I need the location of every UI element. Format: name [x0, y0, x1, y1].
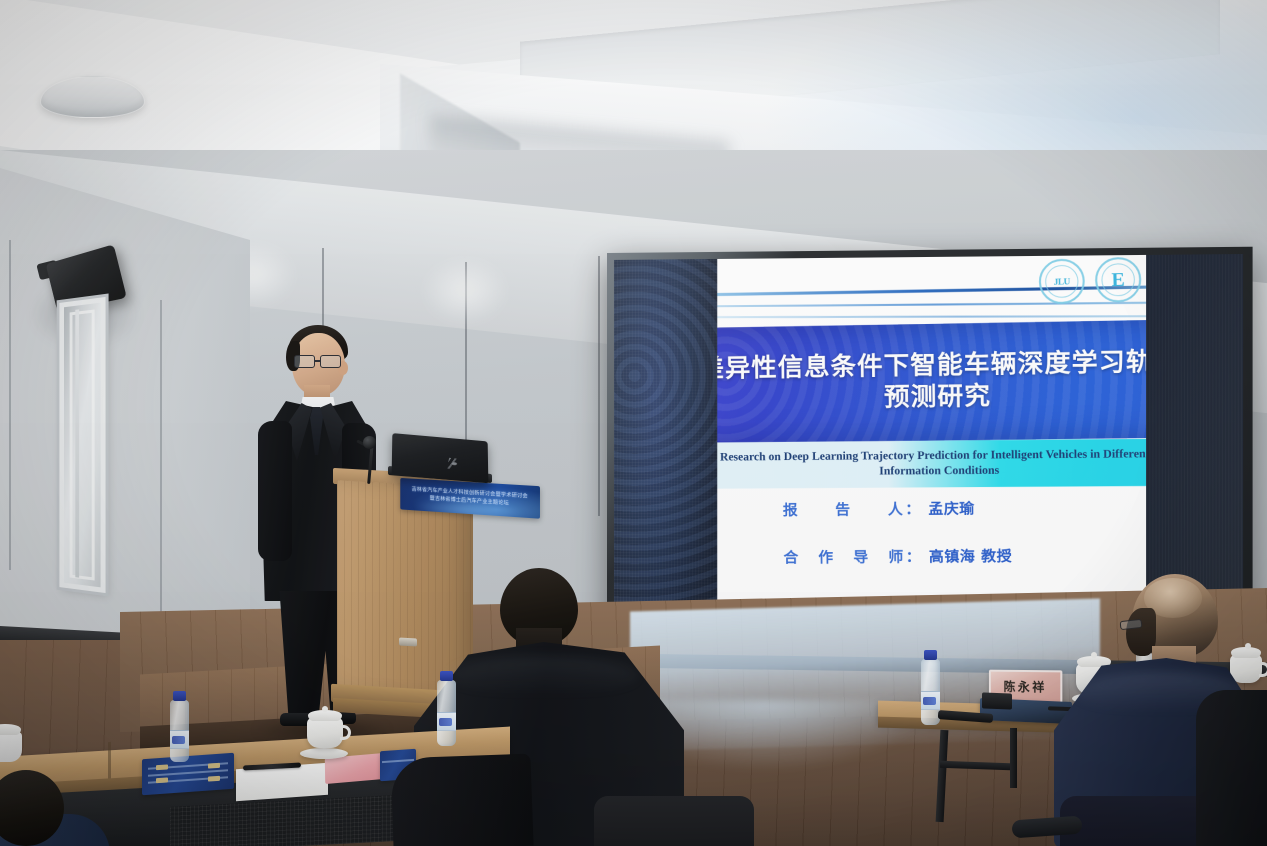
presenter-glasses-icon	[294, 355, 344, 368]
water-bottle[interactable]	[437, 680, 456, 746]
slide-info-row: 报 告 人 ： 孟庆瑜	[782, 498, 1083, 548]
folder-tab	[208, 776, 220, 782]
jilin-university-logo-icon: JLU	[1038, 259, 1085, 305]
folder-tab	[208, 763, 220, 769]
info-colon: ：	[905, 547, 920, 571]
info-colon: ：	[905, 499, 920, 523]
attendee-arm-foreground	[390, 754, 533, 846]
teacup-lid	[0, 724, 21, 735]
seated-attendee-left-partial	[0, 770, 100, 846]
attendee-shoulder-highlight	[448, 656, 638, 696]
slide-subtitle-band: Research on Deep Learning Trajectory Pre…	[717, 439, 1146, 489]
bottle-cap	[173, 691, 186, 701]
info-label-advisor: 合 作 导 师	[783, 547, 904, 595]
info-value-advisor-1: 高镇海 教授	[928, 546, 1011, 570]
teacup-knob	[322, 706, 328, 712]
left-wall-seam	[9, 240, 11, 570]
teacup-partial	[0, 732, 22, 762]
bottle-cap	[440, 671, 453, 681]
wall-seam	[598, 256, 600, 516]
laptop-icon[interactable]	[392, 433, 489, 483]
window	[59, 297, 105, 593]
laptop-brand-logo-icon	[447, 458, 465, 470]
seated-attendee-right-edge	[1196, 690, 1267, 846]
partner-institute-logo-icon: E	[1094, 257, 1141, 303]
saucer	[300, 748, 348, 759]
wall-light-pool	[420, 256, 510, 326]
info-label-presenter: 报 告 人	[782, 499, 903, 547]
conference-room-photo: JLU E 差异性信息条件下智能车辆深度学习轨迹 预测研究 Research o…	[0, 0, 1267, 846]
folder-tab	[156, 777, 168, 783]
bottle-cap	[924, 650, 937, 660]
slide-title-band: 差异性信息条件下智能车辆深度学习轨迹 预测研究	[717, 320, 1146, 444]
info-value-presenter: 孟庆瑜	[928, 499, 975, 523]
bottle-label	[437, 712, 456, 731]
right-table-leg	[1010, 728, 1017, 788]
teacup[interactable]	[307, 718, 343, 748]
bottle-label	[170, 730, 189, 749]
microphone-icon	[363, 436, 376, 449]
chair	[594, 796, 754, 846]
bottle-label	[921, 691, 940, 710]
logo-glyph: JLU	[1053, 277, 1069, 287]
device-case[interactable]	[982, 692, 1012, 709]
slide-subtitle-english: Research on Deep Learning Trajectory Pre…	[717, 448, 1146, 481]
folder-stripe	[382, 759, 414, 763]
slide-logos: JLU E	[1038, 257, 1141, 305]
left-wall-seam	[160, 300, 162, 630]
window-mullion	[75, 309, 79, 577]
slide-title-line-2: 预测研究	[884, 380, 991, 415]
water-bottle[interactable]	[170, 700, 189, 762]
logo-glyph: E	[1111, 270, 1125, 290]
glasses-lens-right	[320, 355, 341, 368]
slide-info-row: 合 作 导 师 ： 高镇海 教授	[783, 546, 1084, 595]
window-inner-frame	[70, 309, 95, 580]
table-seam	[108, 742, 111, 782]
presenter-arm-left	[258, 421, 292, 561]
folder-tab	[156, 764, 168, 770]
glasses-lens-left	[294, 355, 315, 368]
slide-title-line-1: 差异性信息条件下智能车辆深度学习轨迹	[717, 348, 1146, 385]
